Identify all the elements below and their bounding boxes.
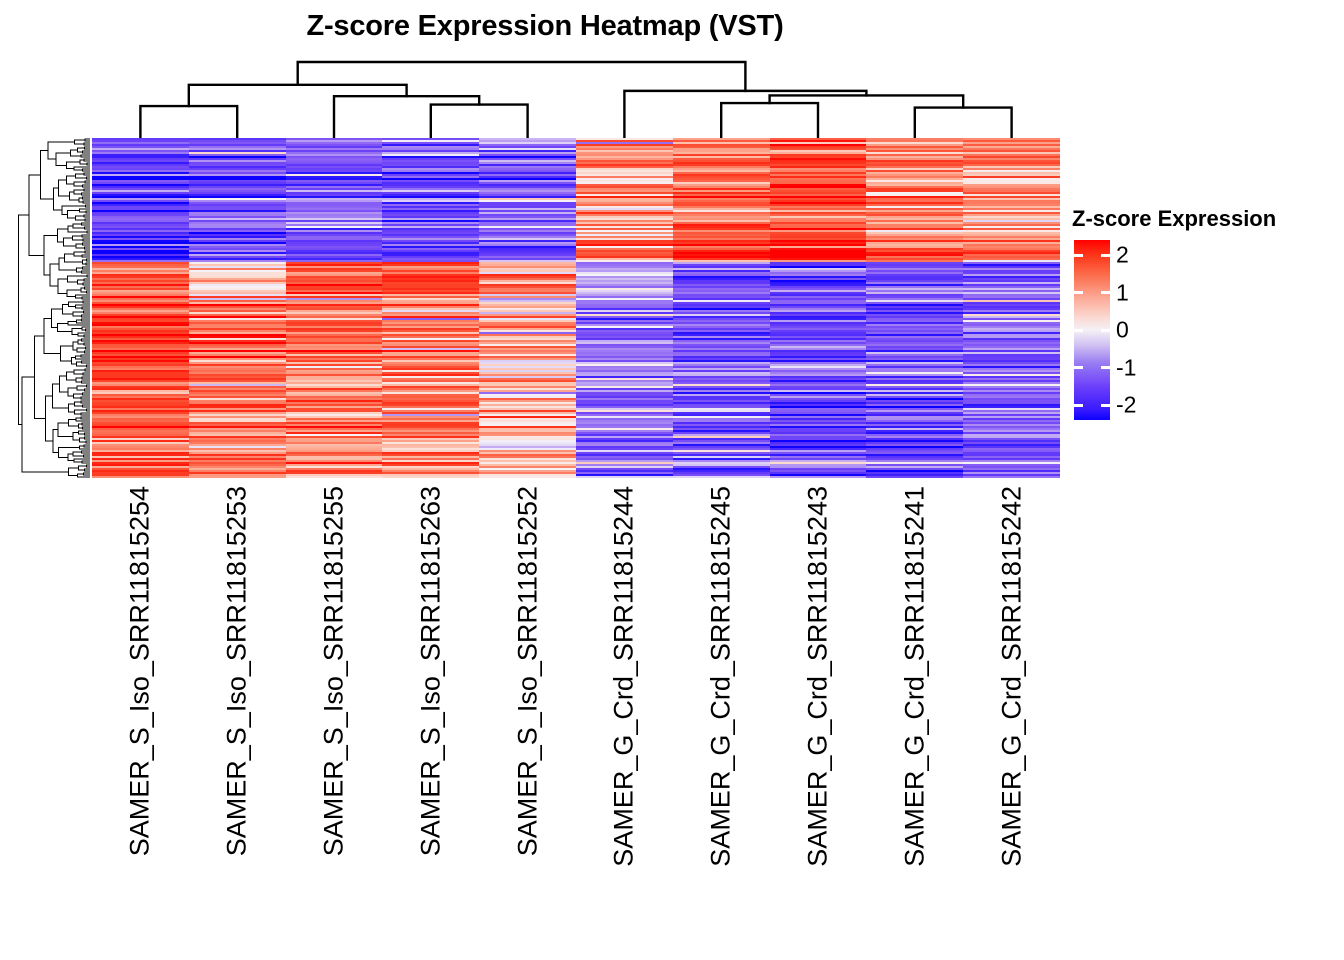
heatmap-grid <box>92 138 1060 478</box>
column-dendrogram-svg <box>92 58 1060 138</box>
heatmap-cell <box>866 476 963 478</box>
legend-tick-label: 2 <box>1116 244 1129 267</box>
column-label: SAMER_S_Iso_SRR11815254 <box>125 486 156 856</box>
page-title: Z-score Expression Heatmap (VST) <box>0 10 1090 43</box>
column-label: SAMER_S_Iso_SRR11815253 <box>222 486 253 856</box>
legend-tick-mark <box>1101 291 1110 294</box>
column-label: SAMER_G_Crd_SRR11815241 <box>899 486 930 867</box>
legend-tick-mark <box>1101 329 1110 332</box>
column-label: SAMER_G_Crd_SRR11815244 <box>609 486 640 867</box>
column-label-slot: SAMER_G_Crd_SRR11815245 <box>673 482 770 942</box>
column-label-slot: SAMER_S_Iso_SRR11815255 <box>286 482 383 942</box>
heatmap-column <box>866 138 963 478</box>
column-label-slot: SAMER_G_Crd_SRR11815244 <box>576 482 673 942</box>
legend-title: Z-score Expression <box>1072 206 1332 232</box>
heatmap-column <box>479 138 576 478</box>
legend: Z-score Expression 210-1-2 <box>1072 206 1332 423</box>
heatmap-cell <box>286 476 383 478</box>
legend-tick-label: 1 <box>1116 281 1129 304</box>
column-label-slot: SAMER_G_Crd_SRR11815242 <box>963 482 1060 942</box>
column-label-slot: SAMER_G_Crd_SRR11815241 <box>866 482 963 942</box>
heatmap-cell <box>382 476 479 478</box>
heatmap-cell <box>92 476 189 478</box>
heatmap-column <box>963 138 1060 478</box>
column-label-slot: SAMER_S_Iso_SRR11815254 <box>92 482 189 942</box>
legend-tick-label: -2 <box>1116 394 1136 417</box>
heatmap-column <box>673 138 770 478</box>
column-label: SAMER_G_Crd_SRR11815242 <box>996 486 1027 867</box>
legend-tick-mark <box>1101 366 1110 369</box>
legend-tick-mark <box>1074 404 1083 407</box>
legend-tick-mark <box>1101 254 1110 257</box>
legend-colorbar-body: 210-1-2 <box>1072 238 1322 423</box>
column-label-slot: SAMER_S_Iso_SRR11815263 <box>382 482 479 942</box>
row-dendrogram <box>16 138 90 478</box>
heatmap-column <box>770 138 867 478</box>
column-label: SAMER_S_Iso_SRR11815263 <box>415 486 446 856</box>
row-dendrogram-svg <box>16 138 90 478</box>
column-label-slot: SAMER_S_Iso_SRR11815253 <box>189 482 286 942</box>
legend-tick-mark <box>1074 254 1083 257</box>
heatmap-cell <box>576 476 673 478</box>
column-label: SAMER_S_Iso_SRR11815255 <box>318 486 349 856</box>
column-dendrogram <box>92 58 1060 138</box>
heatmap-figure: Z-score Expression Heatmap (VST) SAMER_S… <box>0 0 1344 960</box>
heatmap-cell <box>963 476 1060 478</box>
legend-tick-mark <box>1101 404 1110 407</box>
column-labels: SAMER_S_Iso_SRR11815254SAMER_S_Iso_SRR11… <box>92 482 1060 942</box>
heatmap-cell <box>479 476 576 478</box>
column-label-slot: SAMER_G_Crd_SRR11815243 <box>770 482 867 942</box>
legend-tick-mark <box>1074 291 1083 294</box>
heatmap-column <box>92 138 189 478</box>
heatmap-column <box>286 138 383 478</box>
heatmap-column <box>576 138 673 478</box>
legend-tick-mark <box>1074 366 1083 369</box>
column-label-slot: SAMER_S_Iso_SRR11815252 <box>479 482 576 942</box>
legend-tick-label: -1 <box>1116 356 1136 379</box>
column-label: SAMER_G_Crd_SRR11815245 <box>706 486 737 867</box>
column-label: SAMER_S_Iso_SRR11815252 <box>512 486 543 856</box>
column-label: SAMER_G_Crd_SRR11815243 <box>802 486 833 867</box>
heatmap-cell <box>770 476 867 478</box>
heatmap-column <box>382 138 479 478</box>
heatmap-column <box>189 138 286 478</box>
heatmap-cell <box>189 476 286 478</box>
heatmap-cell <box>673 476 770 478</box>
legend-tick-mark <box>1074 329 1083 332</box>
legend-tick-label: 0 <box>1116 319 1129 342</box>
